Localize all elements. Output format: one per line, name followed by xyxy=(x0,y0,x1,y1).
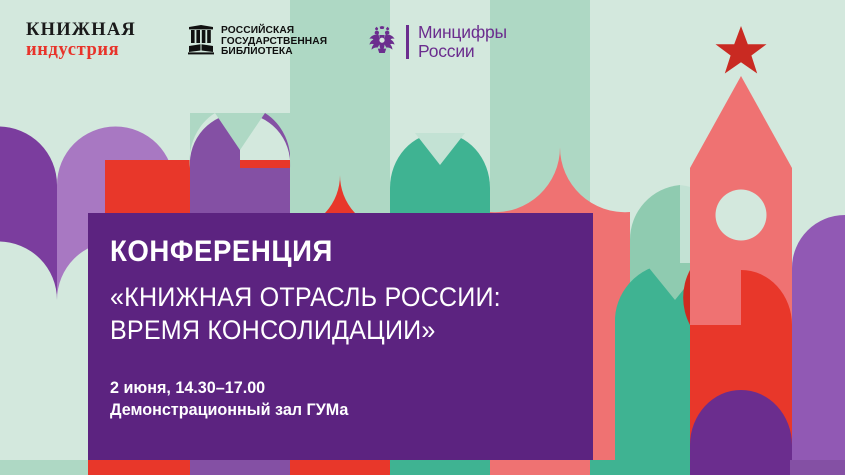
stripe-gap-left xyxy=(0,460,88,475)
book-shape-purple-right-2 xyxy=(792,215,845,460)
stripe-segment xyxy=(790,460,845,475)
stripe-segment xyxy=(590,460,690,475)
panel-title-line-1: «КНИЖНАЯ ОТРАСЛЬ РОССИИ: xyxy=(110,281,559,314)
stripe-segment xyxy=(190,460,290,475)
panel-kicker: КОНФЕРЕНЦИЯ xyxy=(110,235,554,269)
bottom-stripe xyxy=(88,460,845,475)
block-purple-tower-base xyxy=(690,445,792,460)
book-shape-red-dark xyxy=(683,270,792,460)
panel-venue: Демонстрационный зал ГУМа xyxy=(110,399,569,421)
tower-clock xyxy=(716,190,767,241)
stripe-segment xyxy=(390,460,490,475)
panel-title-line-2: ВРЕМЯ КОНСОЛИДАЦИИ» xyxy=(110,314,559,347)
stripe-segment xyxy=(290,460,390,475)
stripe-segment xyxy=(490,460,590,475)
conference-poster: КОНФЕРЕНЦИЯ «КНИЖНАЯ ОТРАСЛЬ РОССИИ: ВРЕ… xyxy=(0,0,845,475)
panel-date: 2 июня, 14.30–17.00 xyxy=(110,377,569,399)
stripe-segment xyxy=(88,460,190,475)
panel-date-block: 2 июня, 14.30–17.00 Демонстрационный зал… xyxy=(110,377,593,421)
stripe-segment xyxy=(690,460,790,475)
conference-info-panel: КОНФЕРЕНЦИЯ «КНИЖНАЯ ОТРАСЛЬ РОССИИ: ВРЕ… xyxy=(88,213,593,460)
